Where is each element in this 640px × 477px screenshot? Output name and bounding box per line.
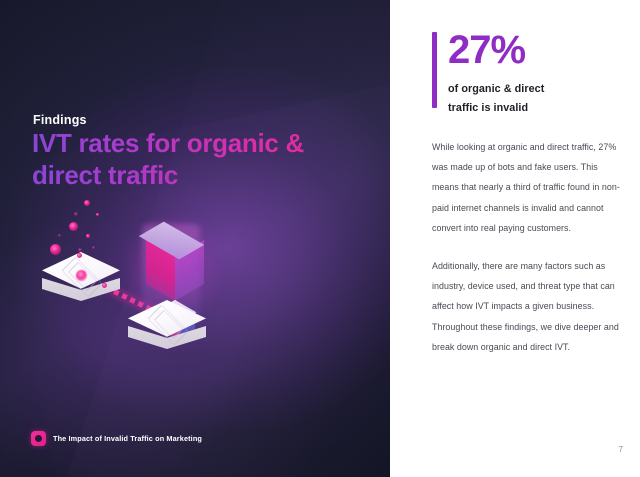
particle-dot-icon <box>86 234 90 238</box>
statistic-caption: of organic & direct traffic is invalid <box>448 80 622 117</box>
particle-dot-icon <box>84 200 90 206</box>
statistic-block: 27% of organic & direct traffic is inval… <box>432 30 622 117</box>
particle-dot-icon <box>50 244 61 255</box>
footer: The Impact of Invalid Traffic on Marketi… <box>31 431 202 446</box>
platform-node-icon <box>77 253 82 258</box>
large-cube <box>140 216 204 300</box>
paragraph: Additionally, there are many factors suc… <box>432 256 624 357</box>
brand-logo-icon <box>31 431 46 446</box>
left-dark-panel: Findings IVT rates for organic & direct … <box>0 0 390 477</box>
particle-dot-icon <box>92 246 95 249</box>
particle-dot-icon <box>96 213 99 216</box>
page-title: IVT rates for organic & direct traffic <box>32 128 352 191</box>
platform-node-icon <box>102 283 107 288</box>
paragraph: While looking at organic and direct traf… <box>432 137 624 238</box>
statistic-caption-line-2: traffic is invalid <box>448 102 528 114</box>
right-content-panel: 27% of organic & direct traffic is inval… <box>390 0 640 477</box>
body-copy: While looking at organic and direct traf… <box>432 137 624 357</box>
slide-page: Findings IVT rates for organic & direct … <box>0 0 640 477</box>
accent-bar <box>432 32 437 108</box>
statistic-value: 27% <box>448 30 622 70</box>
platform-core-glow-icon <box>76 270 87 281</box>
particle-dot-icon <box>74 212 78 216</box>
isometric-illustration <box>40 190 240 360</box>
page-number: 7 <box>619 445 623 454</box>
particle-dot-icon <box>69 222 78 231</box>
footer-title: The Impact of Invalid Traffic on Marketi… <box>53 434 202 443</box>
statistic-caption-line-1: of organic & direct <box>448 83 544 95</box>
particle-dot-icon <box>78 248 82 252</box>
particle-dot-icon <box>58 234 61 237</box>
section-eyebrow-label: Findings <box>33 113 87 127</box>
